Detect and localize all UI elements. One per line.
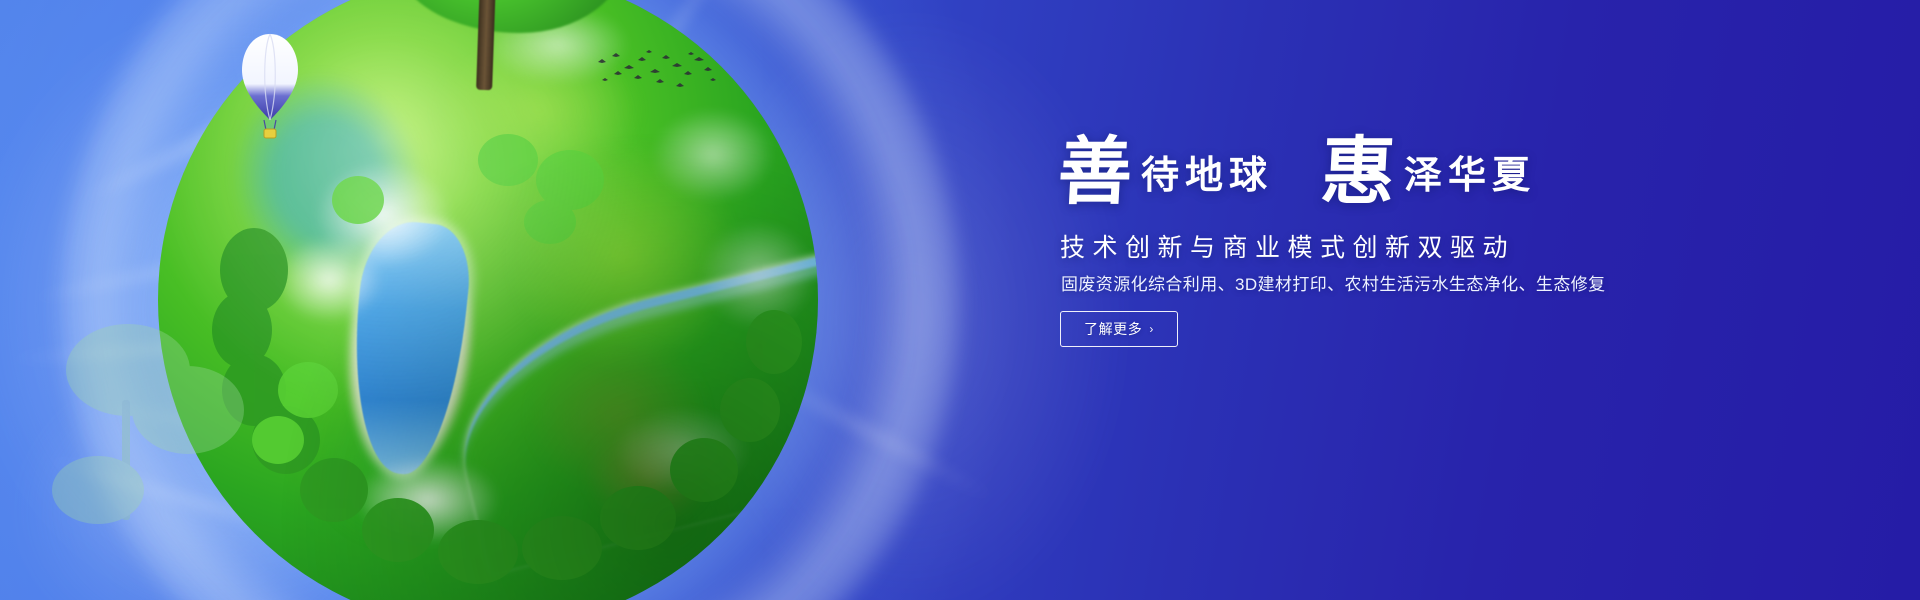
headline-part2-large: 惠 (1319, 138, 1398, 208)
headline-part2-small: 泽华夏 (1396, 157, 1536, 208)
planet-cloud (588, 390, 778, 510)
green-earth-globe (158, 0, 818, 600)
silhouette-trees-icon (38, 300, 338, 560)
learn-more-label: 了解更多 (1084, 319, 1142, 339)
terrain-patch (388, 10, 688, 210)
hero-content: 善 待地球 惠 泽华夏 技术创新与商业模式创新双驱动 固废资源化综合利用、3D建… (1058, 0, 1818, 600)
headline-part1-small: 待地球 (1133, 157, 1273, 208)
hot-air-balloon-icon (236, 28, 306, 148)
headline-part1-large: 善 (1056, 138, 1135, 208)
chevron-right-icon: › (1149, 323, 1154, 335)
planet-cloud (328, 440, 528, 560)
hero-description: 固废资源化综合利用、3D建材打印、农村生活污水生态净化、生态修复 (1061, 270, 1606, 295)
learn-more-button[interactable]: 了解更多 › (1060, 311, 1178, 347)
planet-cloud (678, 200, 818, 350)
page-title: 善 待地球 惠 泽华夏 (1058, 138, 1536, 208)
terrain-patch (558, 400, 738, 550)
hero-subtitle: 技术创新与商业模式创新双驱动 (1060, 228, 1515, 264)
hero-banner: 善 待地球 惠 泽华夏 技术创新与商业模式创新双驱动 固废资源化综合利用、3D建… (0, 0, 1920, 600)
terrain-patch (488, 300, 748, 530)
lake (341, 217, 475, 479)
planet-cloud (288, 140, 478, 290)
lake-shore (326, 205, 494, 494)
terrain-patch (458, 90, 788, 420)
